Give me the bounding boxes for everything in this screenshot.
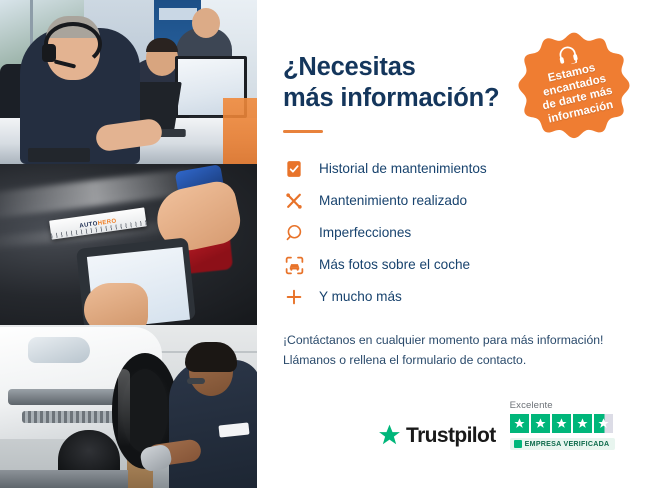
star-filled xyxy=(510,414,529,433)
title-accent-bar xyxy=(283,130,323,133)
contact-information-banner: AUTOHERO xyxy=(0,0,650,488)
star-filled xyxy=(552,414,571,433)
car-headlight xyxy=(28,337,90,363)
list-item-maintenance-history: Historial de mantenimientos xyxy=(283,153,622,185)
star-partial xyxy=(594,414,613,433)
trustpilot-wordmark: Trustpilot xyxy=(406,424,496,448)
headline-line-2: más información? xyxy=(283,84,499,112)
list-item-maintenance-performed: Mantenimiento realizado xyxy=(283,185,622,217)
contact-copy: ¡Contáctanos en cualquier momento para m… xyxy=(283,331,622,371)
mechanic-hair xyxy=(185,342,237,372)
inspector-hand-lower xyxy=(84,283,148,325)
clipboard-check-icon xyxy=(283,158,305,180)
photo-mechanic-inspecting-tire-on-lift xyxy=(0,325,257,488)
tools-crossed-icon xyxy=(283,190,305,212)
photo-inspector-measuring-car-with-ruler: AUTOHERO xyxy=(0,164,257,325)
car-grille-lower xyxy=(22,411,118,423)
feature-label: Mantenimiento realizado xyxy=(319,194,467,208)
car-grille-upper xyxy=(8,389,128,405)
verified-company-label: EMPRESA VERIFICADA xyxy=(525,440,610,448)
trustpilot-rating-label: Excelente xyxy=(510,400,553,411)
star-filled xyxy=(573,414,592,433)
headline-line-1: ¿Necesitas xyxy=(283,53,416,81)
list-item-much-more: Y mucho más xyxy=(283,281,622,313)
desk-tablet xyxy=(28,148,90,162)
list-item-more-car-photos: Más fotos sobre el coche xyxy=(283,249,622,281)
trustpilot-logo[interactable]: Trustpilot xyxy=(377,423,496,450)
trustpilot-star-icon xyxy=(377,423,402,448)
car-scan-icon xyxy=(283,254,305,276)
contact-copy-line-1: ¡Contáctanos en cualquier momento para m… xyxy=(283,333,603,347)
verified-check-icon xyxy=(514,440,522,448)
trustpilot-score-block: Excelente xyxy=(510,400,616,450)
star-filled xyxy=(531,414,550,433)
photo-column: AUTOHERO xyxy=(0,0,257,488)
list-item-imperfections: Imperfecciones xyxy=(283,217,622,249)
tire-highlight xyxy=(118,369,130,447)
car-lift-platform xyxy=(0,470,128,488)
trustpilot-rating[interactable]: Trustpilot Excelente xyxy=(377,400,615,450)
status-badge: Estamos encantados de darte más informac… xyxy=(512,24,636,148)
page-title: ¿Necesitas más información? xyxy=(283,52,518,114)
feature-label: Más fotos sobre el coche xyxy=(319,258,470,272)
photo-call-center-agent-with-headset xyxy=(0,0,257,164)
headset-icon xyxy=(555,42,581,66)
background-colleague-two-head xyxy=(192,8,220,38)
contact-copy-line-2: Llámanos o rellena el formulario de cont… xyxy=(283,353,526,367)
feature-label: Imperfecciones xyxy=(319,226,411,240)
content-panel: ¿Necesitas más información? Historial de… xyxy=(257,0,650,488)
trustpilot-stars xyxy=(510,414,613,433)
magnifier-icon xyxy=(283,222,305,244)
orange-equipment xyxy=(223,98,257,164)
verified-company-badge: EMPRESA VERIFICADA xyxy=(510,438,616,450)
feature-list: Historial de mantenimientos Mantenimient… xyxy=(283,153,622,313)
plus-icon xyxy=(283,286,305,308)
feature-label: Y mucho más xyxy=(319,290,402,304)
mechanic-safety-glasses xyxy=(187,378,205,384)
feature-label: Historial de mantenimientos xyxy=(319,162,487,176)
